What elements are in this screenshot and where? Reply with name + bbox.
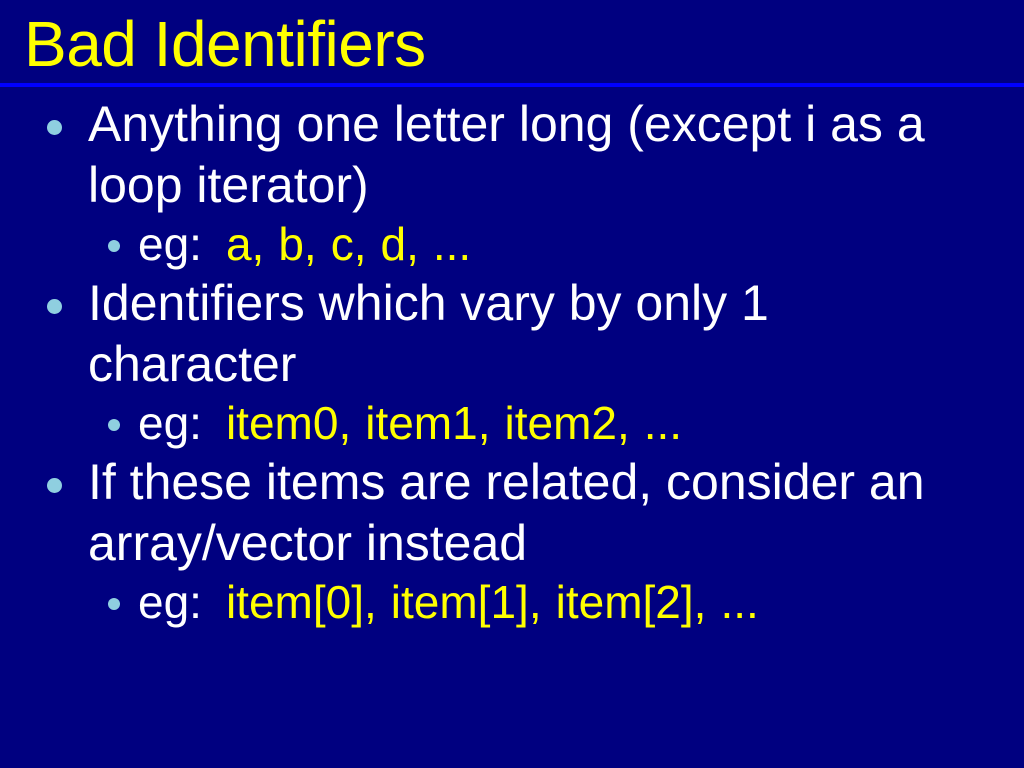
- list-item: eg:a,b,c,d,...: [0, 216, 1000, 273]
- list-item-text: Anything one letter long (except i as a …: [88, 96, 925, 213]
- bullet-dot-icon: [108, 598, 120, 610]
- title-divider: [0, 83, 1024, 87]
- slide: Bad Identifiers Anything one letter long…: [0, 0, 1024, 768]
- example-label: eg:: [138, 397, 202, 449]
- example-value: item1,: [365, 397, 490, 449]
- example-value: ...: [644, 397, 682, 449]
- list-item: eg:item[0],item[1],item[2],...: [0, 574, 1000, 631]
- example-value: item[2],: [556, 576, 707, 628]
- list-item-text: Identifiers which vary by only 1 charact…: [88, 275, 769, 392]
- bullet-dot-icon: [47, 299, 62, 314]
- bullet-dot-icon: [47, 120, 62, 135]
- example-label: eg:: [138, 218, 202, 270]
- example-value: ...: [720, 576, 758, 628]
- bullet-dot-icon: [108, 240, 120, 252]
- slide-body: Anything one letter long (except i as a …: [0, 94, 1024, 631]
- example-label: eg:: [138, 576, 202, 628]
- example-value: item[0],: [226, 576, 377, 628]
- list-item-text: If these items are related, consider an …: [88, 454, 925, 571]
- bullet-dot-icon: [47, 478, 62, 493]
- example-value: c,: [331, 218, 367, 270]
- list-item: eg:item0,item1,item2,...: [0, 395, 1000, 452]
- list-item: Identifiers which vary by only 1 charact…: [0, 273, 960, 395]
- example-value: item2,: [504, 397, 629, 449]
- example-value: b,: [278, 218, 316, 270]
- example-value: ...: [433, 218, 471, 270]
- example-value: item[1],: [391, 576, 542, 628]
- example-value: d,: [380, 218, 418, 270]
- list-item: Anything one letter long (except i as a …: [0, 94, 960, 216]
- list-item: If these items are related, consider an …: [0, 452, 960, 574]
- bullet-dot-icon: [108, 419, 120, 431]
- example-value: a,: [226, 218, 264, 270]
- page-title: Bad Identifiers: [24, 8, 426, 80]
- example-value: item0,: [226, 397, 351, 449]
